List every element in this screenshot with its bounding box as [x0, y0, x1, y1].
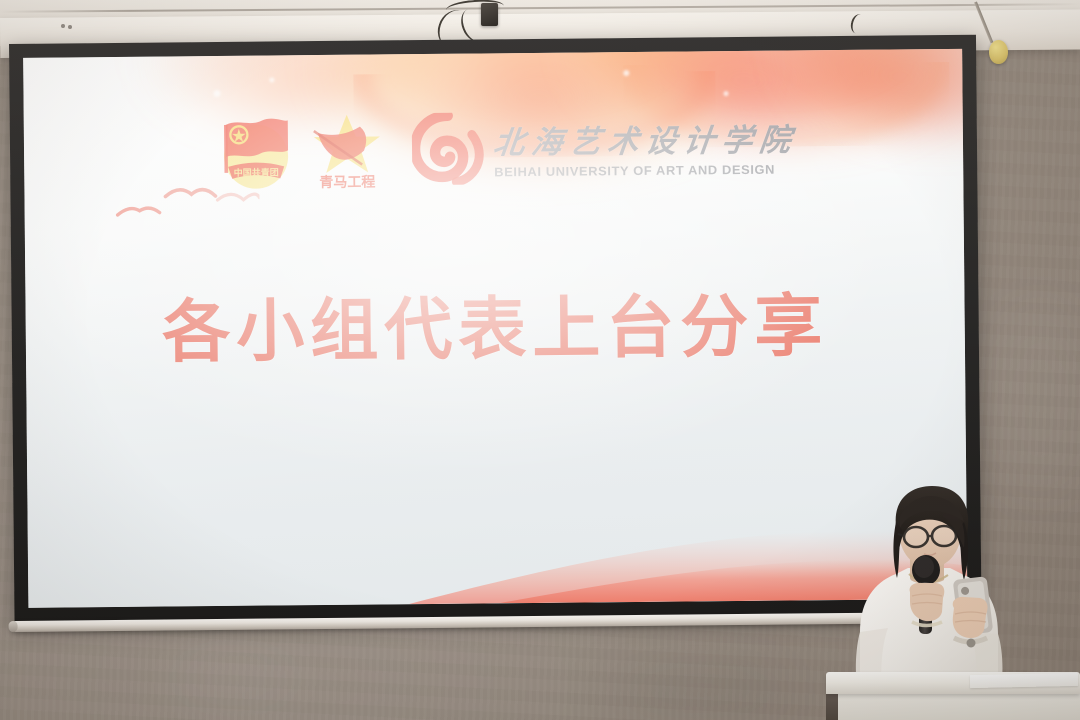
paper-sheet	[970, 673, 1078, 688]
light-speck	[213, 90, 220, 97]
slide-title: 各小组代表上台分享	[25, 269, 965, 377]
lectern	[826, 672, 1080, 720]
university-logo: 北海艺术设计学院 BEIHAI UNIVERSITY OF ART AND DE…	[412, 109, 799, 185]
communist-youth-league-flag-icon: 中国共青团	[214, 110, 301, 191]
slide-logo-row: 中国共青团 青马工程	[214, 104, 799, 192]
ceiling-marking	[68, 25, 72, 29]
screen-pull-cord[interactable]	[989, 40, 1008, 64]
university-name-block: 北海艺术设计学院 BEIHAI UNIVERSITY OF ART AND DE…	[494, 114, 799, 179]
university-spiral-mark-icon	[412, 112, 485, 185]
lectern-body	[838, 692, 1080, 720]
wall-stain	[600, 660, 800, 720]
photo-scene: 中国共青团 青马工程	[0, 0, 1080, 720]
university-name-cn: 北海艺术设计学院	[491, 114, 800, 162]
university-name-en: BEIHAI UNIVERSITY OF ART AND DESIGN	[494, 162, 807, 179]
projection-screen: 中国共青团 青马工程	[9, 35, 982, 624]
pink-wave-decoration	[27, 419, 968, 608]
ceiling-marking	[61, 24, 65, 28]
screen-surface: 中国共青团 青马工程	[23, 49, 967, 608]
svg-text:中国共青团: 中国共青团	[234, 166, 279, 178]
screen-bar-end-cap	[9, 621, 18, 632]
qingma-project-logo-icon: 青马工程	[304, 108, 391, 191]
light-speck	[269, 77, 274, 82]
wall-stain	[160, 648, 310, 708]
svg-text:青马工程: 青马工程	[319, 173, 375, 191]
light-speck	[723, 91, 728, 96]
light-speck	[623, 70, 629, 76]
presentation-slide: 中国共青团 青马工程	[23, 49, 967, 608]
